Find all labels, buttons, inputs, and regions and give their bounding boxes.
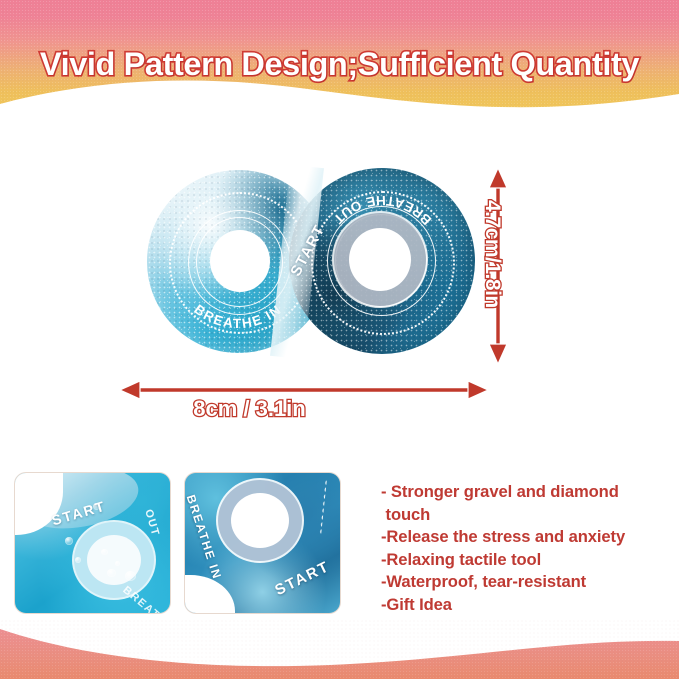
footer-wave-decoration bbox=[0, 619, 679, 679]
thumbnail-start-droplets[interactable]: START OUT BREAT bbox=[14, 472, 171, 614]
disc-center-hole-right bbox=[349, 228, 411, 291]
feature-item: -Release the stress and anxiety bbox=[381, 526, 673, 549]
water-droplet-icon bbox=[125, 571, 136, 581]
feature-item: -Waterproof, tear-resistant bbox=[381, 571, 673, 594]
height-dimension-label: 4.7cm/1.8in bbox=[480, 200, 504, 308]
disc-center-hole-left bbox=[210, 230, 270, 292]
header-banner: Vivid Pattern Design;Sufficient Quantity bbox=[0, 0, 679, 118]
width-dimension-label: 8cm / 3.1in bbox=[0, 396, 679, 422]
thumbnail-2-artwork: BREATHE IN START bbox=[185, 473, 340, 613]
feature-item: - Stronger gravel and diamond touch bbox=[381, 481, 673, 526]
breathe-out-disc: BREATHE OUT bbox=[289, 168, 475, 354]
water-droplet-icon bbox=[65, 537, 73, 545]
thumbnail-2-center-hole bbox=[231, 493, 289, 548]
svg-text:BREATHE IN: BREATHE IN bbox=[191, 302, 284, 331]
feature-list: - Stronger gravel and diamond touch -Rel… bbox=[381, 481, 673, 616]
water-droplet-icon bbox=[75, 557, 81, 563]
product-infographic-page: Vivid Pattern Design;Sufficient Quantity… bbox=[0, 0, 679, 679]
breathe-out-label: BREATHE OUT bbox=[330, 193, 435, 228]
header-wave-divider bbox=[0, 74, 679, 118]
feature-item: -Relaxing tactile tool bbox=[381, 549, 673, 572]
feature-item: -Gift Idea bbox=[381, 594, 673, 617]
thumbnail-1-artwork: START OUT BREAT bbox=[15, 473, 170, 613]
svg-text:BREATHE OUT: BREATHE OUT bbox=[330, 193, 435, 228]
thumbnail-breathe-in[interactable]: BREATHE IN START bbox=[184, 472, 341, 614]
water-droplet-icon bbox=[107, 569, 116, 577]
breathe-in-label: BREATHE IN bbox=[191, 302, 284, 331]
water-droplet-icon bbox=[115, 561, 120, 566]
water-droplet-icon bbox=[101, 549, 108, 555]
